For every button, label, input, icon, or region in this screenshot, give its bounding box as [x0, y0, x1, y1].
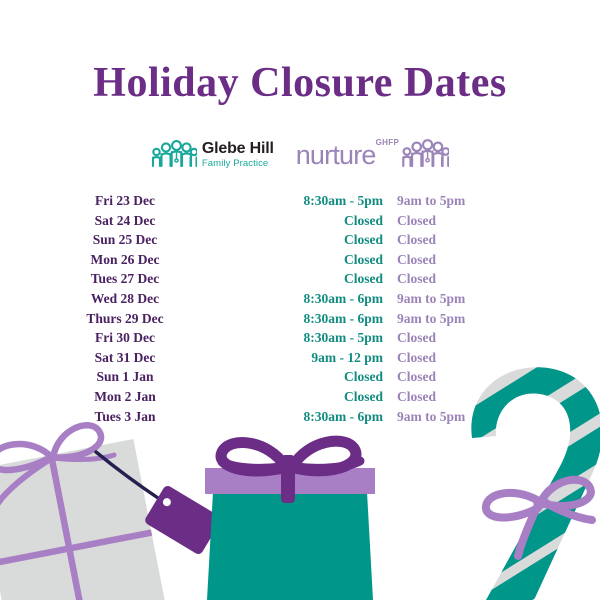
table-row: Tues 3 Jan 8:30am - 6pm 9am to 5pm [0, 409, 600, 429]
schedule-practice-hours: Closed [250, 271, 383, 287]
schedule-practice-hours: 8:30am - 5pm [250, 193, 383, 209]
logo-glebe-hill: Glebe Hill Family Practice [151, 138, 274, 173]
schedule-nurture-hours: Closed [383, 213, 573, 229]
nurture-superscript: GHFP [376, 138, 399, 147]
schedule-practice-hours: Closed [250, 369, 383, 385]
people-group-icon [401, 137, 449, 173]
schedule-date: Wed 28 Dec [0, 291, 250, 307]
logo-row: Glebe Hill Family Practice nurture GHFP [0, 137, 600, 173]
table-row: Mon 26 Dec Closed Closed [0, 252, 600, 272]
schedule-date: Tues 3 Jan [0, 409, 250, 425]
schedule-practice-hours: 8:30am - 6pm [250, 409, 383, 425]
schedule-practice-hours: 9am - 12 pm [250, 350, 383, 366]
closure-schedule-table: Fri 23 Dec 8:30am - 5pm 9am to 5pm Sat 2… [0, 193, 600, 428]
schedule-nurture-hours: Closed [383, 350, 573, 366]
schedule-nurture-hours: Closed [383, 252, 573, 268]
schedule-practice-hours: 8:30am - 6pm [250, 311, 383, 327]
logo-nurture: nurture GHFP [296, 137, 449, 173]
page-title: Holiday Closure Dates [0, 60, 600, 106]
schedule-nurture-hours: Closed [383, 389, 573, 405]
gift-box-icon [0, 417, 166, 600]
schedule-nurture-hours: Closed [383, 271, 573, 287]
schedule-practice-hours: 8:30am - 5pm [250, 330, 383, 346]
glebe-hill-wordmark: Glebe Hill Family Practice [202, 141, 274, 169]
poster-canvas: Holiday Closure Dates [0, 0, 600, 600]
schedule-nurture-hours: Closed [383, 369, 573, 385]
schedule-nurture-hours: 9am to 5pm [383, 291, 573, 307]
glebe-hill-title: Glebe Hill [202, 141, 274, 157]
schedule-practice-hours: Closed [250, 389, 383, 405]
table-row: Tues 27 Dec Closed Closed [0, 271, 600, 291]
gift-tag-string [96, 452, 158, 498]
table-row: Sat 24 Dec Closed Closed [0, 213, 600, 233]
schedule-nurture-hours: Closed [383, 232, 573, 248]
schedule-practice-hours: Closed [250, 252, 383, 268]
schedule-date: Fri 23 Dec [0, 193, 250, 209]
table-row: Thurs 29 Dec 8:30am - 6pm 9am to 5pm [0, 311, 600, 331]
schedule-date: Thurs 29 Dec [0, 311, 250, 327]
schedule-nurture-hours: Closed [383, 330, 573, 346]
table-row: Wed 28 Dec 8:30am - 6pm 9am to 5pm [0, 291, 600, 311]
schedule-date: Mon 26 Dec [0, 252, 250, 268]
table-row: Mon 2 Jan Closed Closed [0, 389, 600, 409]
schedule-practice-hours: Closed [250, 232, 383, 248]
candy-cane-bow-icon [486, 480, 592, 556]
people-group-icon [151, 138, 197, 173]
nurture-wordmark: nurture [296, 142, 376, 169]
table-row: Sun 25 Dec Closed Closed [0, 232, 600, 252]
table-row: Fri 30 Dec 8:30am - 5pm Closed [0, 330, 600, 350]
gift-tag-icon [143, 484, 222, 556]
schedule-nurture-hours: 9am to 5pm [383, 311, 573, 327]
schedule-nurture-hours: 9am to 5pm [383, 193, 573, 209]
schedule-date: Sun 25 Dec [0, 232, 250, 248]
schedule-date: Sat 31 Dec [0, 350, 250, 366]
table-row: Fri 23 Dec 8:30am - 5pm 9am to 5pm [0, 193, 600, 213]
schedule-practice-hours: 8:30am - 6pm [250, 291, 383, 307]
glebe-hill-subtitle: Family Practice [202, 159, 274, 169]
table-row: Sat 31 Dec 9am - 12 pm Closed [0, 350, 600, 370]
schedule-date: Sun 1 Jan [0, 369, 250, 385]
schedule-date: Tues 27 Dec [0, 271, 250, 287]
gift-box-icon [205, 441, 375, 600]
schedule-date: Fri 30 Dec [0, 330, 250, 346]
schedule-date: Sat 24 Dec [0, 213, 250, 229]
schedule-practice-hours: Closed [250, 213, 383, 229]
table-row: Sun 1 Jan Closed Closed [0, 369, 600, 389]
schedule-nurture-hours: 9am to 5pm [383, 409, 573, 425]
schedule-date: Mon 2 Jan [0, 389, 250, 405]
